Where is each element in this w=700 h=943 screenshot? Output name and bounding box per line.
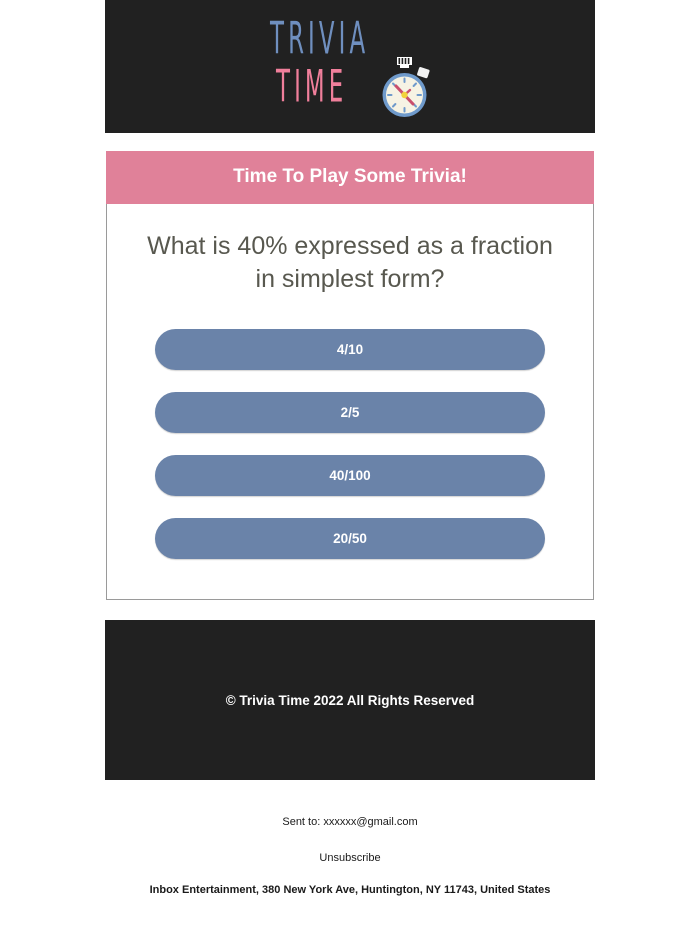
logo-header: TRIVIA TIME [105, 0, 595, 133]
stopwatch-icon [378, 57, 432, 119]
sent-to-text: Sent to: xxxxxx@gmail.com [105, 816, 595, 828]
copyright-text: © Trivia Time 2022 All Rights Reserved [226, 693, 475, 708]
unsubscribe-link[interactable]: Unsubscribe [319, 852, 380, 864]
answer-option-1[interactable]: 4/10 [155, 329, 545, 370]
card-banner-title: Time To Play Some Trivia! [106, 151, 594, 204]
answer-option-4[interactable]: 20/50 [155, 518, 545, 559]
logo-text-time: TIME [276, 65, 347, 110]
legal-footer: Sent to: xxxxxx@gmail.com Unsubscribe In… [105, 780, 595, 896]
answer-option-3[interactable]: 40/100 [155, 455, 545, 496]
email-body: TRIVIA TIME [0, 0, 700, 896]
answer-list: 4/10 2/5 40/100 20/50 [107, 296, 593, 599]
quiz-card: Time To Play Some Trivia! What is 40% ex… [106, 151, 594, 600]
company-address: Inbox Entertainment, 380 New York Ave, H… [105, 884, 595, 896]
question-text: What is 40% expressed as a fraction in s… [107, 204, 593, 296]
answer-option-2[interactable]: 2/5 [155, 392, 545, 433]
footer-banner: © Trivia Time 2022 All Rights Reserved [105, 620, 595, 780]
logo-text-trivia: TRIVIA [270, 17, 369, 62]
brand-logo: TRIVIA TIME [270, 13, 430, 121]
